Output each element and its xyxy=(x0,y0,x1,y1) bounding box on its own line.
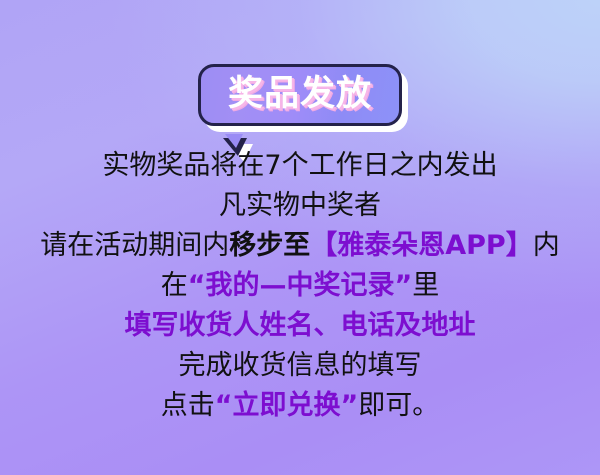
instruction-line: 点击“立即兑换”即可。 xyxy=(0,386,600,426)
instruction-line: 在“我的—中奖记录”里 xyxy=(0,266,600,306)
section-title-label: 奖品发放 xyxy=(228,74,372,114)
instruction-line: 实物奖品将在7个工作日之内发出 xyxy=(0,146,600,186)
section-title-badge: 奖品发放 xyxy=(198,64,402,126)
instruction-line: 完成收货信息的填写 xyxy=(0,346,600,386)
highlighted-text: “我的—中奖记录” xyxy=(188,270,413,301)
instruction-text: 点击 xyxy=(161,390,215,421)
promo-poster: 奖品发放 实物奖品将在7个工作日之内发出凡实物中奖者请在活动期间内移步至【雅泰朵… xyxy=(0,0,600,475)
instruction-text: 完成收货信息的填写 xyxy=(179,350,422,381)
instructions-block: 实物奖品将在7个工作日之内发出凡实物中奖者请在活动期间内移步至【雅泰朵恩APP】… xyxy=(0,146,600,426)
highlighted-text: “立即兑换” xyxy=(215,390,359,421)
highlighted-text: 【雅泰朵恩APP】 xyxy=(310,230,532,261)
instruction-text: 移步至 xyxy=(229,230,310,261)
instruction-text: 请在活动期间内 xyxy=(40,230,229,261)
highlighted-text: 填写收货人姓名、电话及地址 xyxy=(125,310,476,341)
instruction-text: 里 xyxy=(412,270,439,301)
instruction-text: 内 xyxy=(533,230,560,261)
instruction-text: 凡实物中奖者 xyxy=(219,190,381,221)
badge-container: 奖品发放 xyxy=(0,64,600,136)
instruction-line: 凡实物中奖者 xyxy=(0,186,600,226)
instruction-text: 即可。 xyxy=(358,390,439,421)
instruction-line: 请在活动期间内移步至【雅泰朵恩APP】内 xyxy=(0,226,600,266)
instruction-text: 在 xyxy=(161,270,188,301)
instruction-text: 实物奖品将在7个工作日之内发出 xyxy=(102,150,497,181)
instruction-line: 填写收货人姓名、电话及地址 xyxy=(0,306,600,346)
